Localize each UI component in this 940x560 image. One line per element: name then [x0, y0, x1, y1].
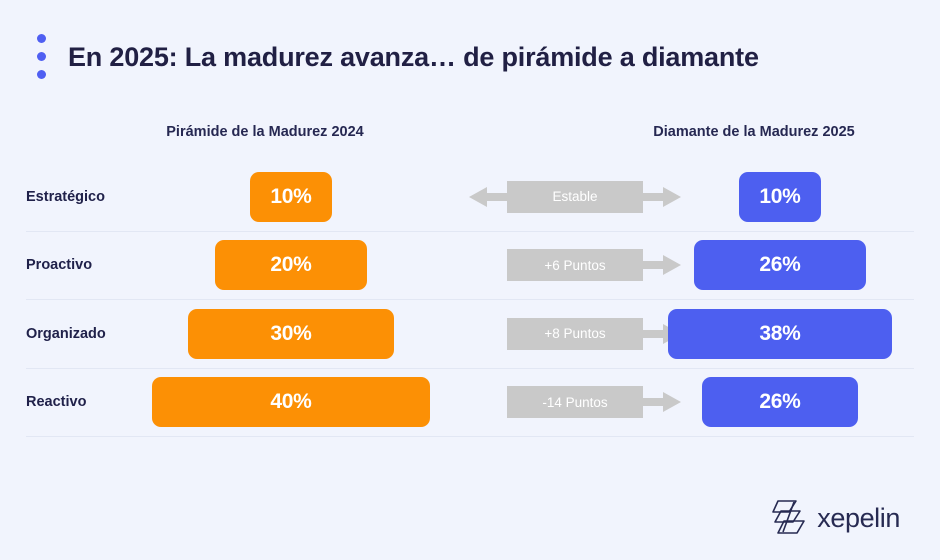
- bar-2025: 38%: [668, 309, 892, 359]
- table-row: Organizado30%+8 Puntos38%: [26, 300, 914, 369]
- bar-cell-2025: 26%: [604, 377, 940, 427]
- column-heading-left: Pirámide de la Madurez 2024: [115, 124, 415, 140]
- table-row: Estratégico10%Estable10%: [26, 163, 914, 232]
- vertical-dots-icon: [30, 34, 52, 81]
- xepelin-logo-mark: [772, 498, 808, 538]
- bar-cell-2025: 10%: [604, 172, 940, 222]
- bar-2024: 30%: [188, 309, 394, 359]
- row-label: Estratégico: [26, 189, 105, 205]
- bar-2024: 10%: [250, 172, 332, 222]
- bar-cell-2024: 10%: [115, 172, 467, 222]
- bar-cell-2024: 20%: [115, 240, 467, 290]
- dot-3: [37, 70, 46, 79]
- bar-cell-2025: 38%: [604, 309, 940, 359]
- dot-1: [37, 34, 46, 43]
- column-heading-right: Diamante de la Madurez 2025: [604, 124, 904, 140]
- row-label: Proactivo: [26, 257, 92, 273]
- table-row: Proactivo20%+6 Puntos26%: [26, 232, 914, 301]
- bar-2024: 40%: [152, 377, 430, 427]
- bar-2024: 20%: [215, 240, 367, 290]
- brand-logo: xepelin: [772, 498, 900, 538]
- bar-2025: 26%: [702, 377, 858, 427]
- table-row: Reactivo40%-14 Puntos26%: [26, 369, 914, 438]
- page-title: En 2025: La madurez avanza… de pirámide …: [68, 42, 759, 73]
- bar-2025: 26%: [694, 240, 866, 290]
- brand-name: xepelin: [817, 505, 900, 532]
- comparison-table: Estratégico10%Estable10%Proactivo20%+6 P…: [0, 163, 940, 437]
- header: En 2025: La madurez avanza… de pirámide …: [30, 34, 759, 81]
- bar-cell-2024: 40%: [115, 377, 467, 427]
- bar-cell-2024: 30%: [115, 309, 467, 359]
- bar-cell-2025: 26%: [604, 240, 940, 290]
- row-label: Reactivo: [26, 394, 86, 410]
- bar-2025: 10%: [739, 172, 821, 222]
- dot-2: [37, 52, 46, 61]
- row-label: Organizado: [26, 326, 106, 342]
- slide-canvas: En 2025: La madurez avanza… de pirámide …: [0, 0, 940, 560]
